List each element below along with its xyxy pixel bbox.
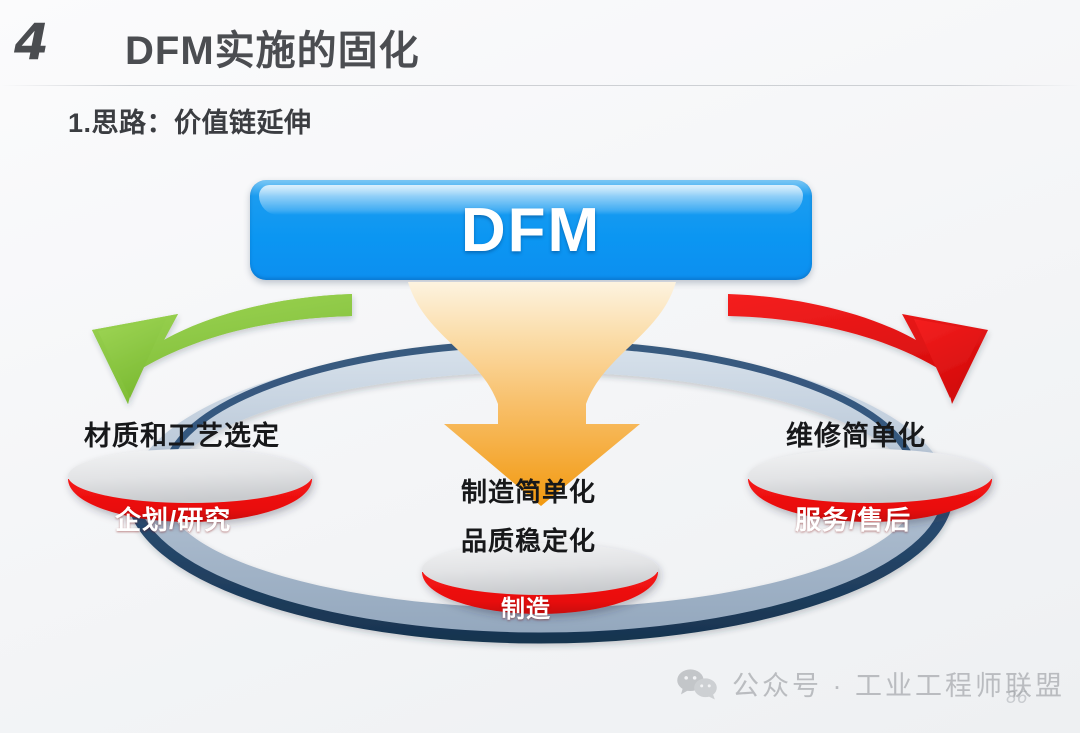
label-quality-stabilization: 品质稳定化: [461, 521, 596, 558]
footer-text: 公众号 · 工业工程师联盟: [732, 664, 1065, 703]
curved-arrow-left-icon: [92, 294, 352, 404]
header-divider: [0, 85, 1080, 86]
slide-canvas: 4 DFM实施的固化 1.思路：价值链延伸 DFM: [0, 0, 1080, 733]
dfm-banner: DFM: [250, 180, 812, 280]
page-subtitle: 1.思路：价值链延伸: [68, 101, 312, 140]
dfm-banner-label: DFM: [250, 180, 812, 280]
node-label-plan: 企划/研究: [115, 500, 231, 537]
page-title: DFM实施的固化: [125, 18, 420, 76]
curved-arrow-right-icon: [728, 294, 988, 404]
label-maintenance-simplification: 维修简单化: [786, 414, 926, 453]
node-label-service: 服务/售后: [795, 500, 911, 537]
node-label-make: 制造: [501, 589, 551, 624]
slide-number: 4: [14, 13, 48, 71]
label-material-process: 材质和工艺选定: [84, 414, 280, 453]
label-manufacture-simplification: 制造简单化: [461, 472, 596, 509]
footer-watermark: 公众号 · 工业工程师联盟: [676, 664, 1065, 703]
slide-header: 4 DFM实施的固化: [0, 0, 1080, 86]
wechat-icon: [676, 668, 718, 700]
